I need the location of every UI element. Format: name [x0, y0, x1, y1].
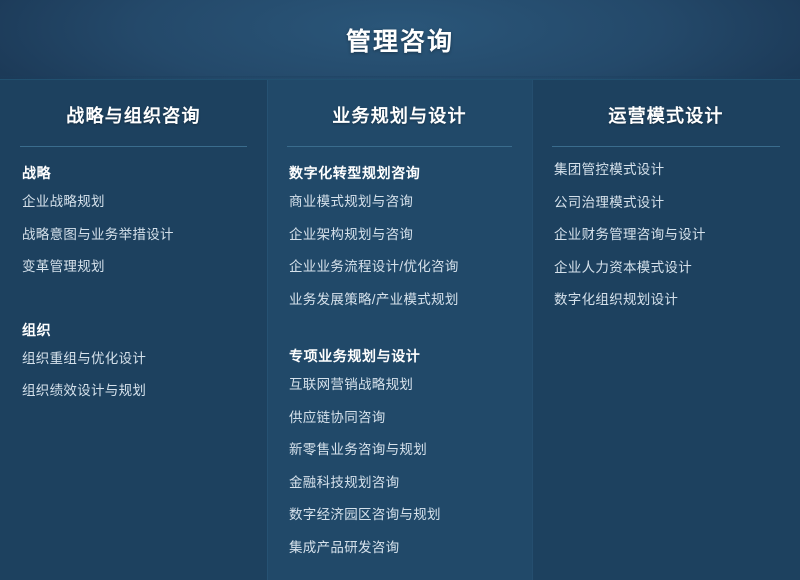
- section-strategy: 战略 企业战略规划 战略意图与业务举措设计 变革管理规划: [20, 163, 247, 274]
- page-title: 管理咨询: [346, 22, 454, 58]
- list-item[interactable]: 企业人力资本模式设计: [552, 261, 780, 275]
- list-item[interactable]: 企业业务流程设计/优化咨询: [287, 260, 512, 274]
- list-item[interactable]: 数字经济园区咨询与规划: [287, 508, 512, 522]
- list-item[interactable]: 变革管理规划: [20, 260, 247, 274]
- service-list: 组织重组与优化设计 组织绩效设计与规划: [20, 352, 247, 398]
- section-title: 战略: [22, 163, 247, 183]
- column-title: 业务规划与设计: [287, 102, 512, 147]
- section-title: 组织: [22, 320, 247, 340]
- list-item[interactable]: 企业战略规划: [20, 195, 247, 209]
- list-item[interactable]: 新零售业务咨询与规划: [287, 443, 512, 457]
- column-strategy-organization: 战略与组织咨询 战略 企业战略规划 战略意图与业务举措设计 变革管理规划 组织 …: [0, 80, 267, 580]
- list-item[interactable]: 金融科技规划咨询: [287, 476, 512, 490]
- list-item[interactable]: 商业模式规划与咨询: [287, 195, 512, 209]
- list-item[interactable]: 业务发展策略/产业模式规划: [287, 293, 512, 307]
- columns-container: 战略与组织咨询 战略 企业战略规划 战略意图与业务举措设计 变革管理规划 组织 …: [0, 80, 800, 580]
- panel-header: 管理咨询: [0, 0, 800, 80]
- list-item[interactable]: 战略意图与业务举措设计: [20, 228, 247, 242]
- section-digital-transformation: 数字化转型规划咨询 商业模式规划与咨询 企业架构规划与咨询 企业业务流程设计/优…: [287, 163, 512, 306]
- list-item[interactable]: 集成产品研发咨询: [287, 541, 512, 555]
- section-specialized-business: 专项业务规划与设计 互联网营销战略规划 供应链协同咨询 新零售业务咨询与规划 金…: [287, 346, 512, 554]
- list-item[interactable]: 数字化组织规划设计: [552, 293, 780, 307]
- section-title: 专项业务规划与设计: [289, 346, 512, 366]
- list-item[interactable]: 组织重组与优化设计: [20, 352, 247, 366]
- section-organization: 组织 组织重组与优化设计 组织绩效设计与规划: [20, 320, 247, 398]
- list-item[interactable]: 组织绩效设计与规划: [20, 384, 247, 398]
- column-business-planning-design: 业务规划与设计 数字化转型规划咨询 商业模式规划与咨询 企业架构规划与咨询 企业…: [267, 80, 532, 580]
- list-item[interactable]: 公司治理模式设计: [552, 196, 780, 210]
- service-list: 集团管控模式设计 公司治理模式设计 企业财务管理咨询与设计 企业人力资本模式设计…: [552, 163, 780, 307]
- list-item[interactable]: 企业财务管理咨询与设计: [552, 228, 780, 242]
- column-operating-model-design: 运营模式设计 集团管控模式设计 公司治理模式设计 企业财务管理咨询与设计 企业人…: [532, 80, 800, 580]
- section-title: 数字化转型规划咨询: [289, 163, 512, 183]
- service-list: 商业模式规划与咨询 企业架构规划与咨询 企业业务流程设计/优化咨询 业务发展策略…: [287, 195, 512, 306]
- list-item[interactable]: 互联网营销战略规划: [287, 378, 512, 392]
- column-title: 战略与组织咨询: [20, 102, 247, 147]
- list-item[interactable]: 供应链协同咨询: [287, 411, 512, 425]
- list-item[interactable]: 企业架构规划与咨询: [287, 228, 512, 242]
- list-item[interactable]: 集团管控模式设计: [552, 163, 780, 177]
- service-list: 互联网营销战略规划 供应链协同咨询 新零售业务咨询与规划 金融科技规划咨询 数字…: [287, 378, 512, 554]
- column-title: 运营模式设计: [552, 102, 780, 147]
- service-list: 企业战略规划 战略意图与业务举措设计 变革管理规划: [20, 195, 247, 274]
- section-operating-model: 集团管控模式设计 公司治理模式设计 企业财务管理咨询与设计 企业人力资本模式设计…: [552, 163, 780, 307]
- management-consulting-panel: 管理咨询 战略与组织咨询 战略 企业战略规划 战略意图与业务举措设计 变革管理规…: [0, 0, 800, 580]
